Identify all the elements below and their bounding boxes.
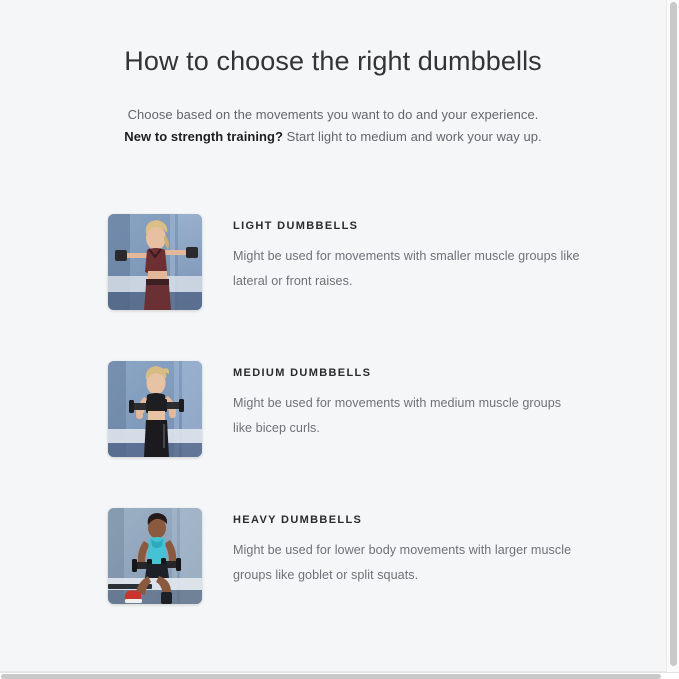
list-item: MEDIUM DUMBBELLS Might be used for movem… xyxy=(108,361,666,457)
subtitle-strong-lead: New to strength training? xyxy=(124,129,283,144)
vertical-scrollbar-thumb[interactable] xyxy=(670,2,677,666)
list-item-heading: LIGHT DUMBBELLS xyxy=(233,219,583,233)
page-subtitle: Choose based on the movements you want t… xyxy=(0,78,666,148)
woman-bicep-curl-photo xyxy=(108,361,202,457)
subtitle-line-2-rest: Start light to medium and work your way … xyxy=(283,129,542,144)
subtitle-line-2: New to strength training? Start light to… xyxy=(0,126,666,148)
page-header: How to choose the right dumbbells Choose… xyxy=(0,0,666,148)
list-item-body: Might be used for movements with medium … xyxy=(233,380,583,441)
subtitle-line-1: Choose based on the movements you want t… xyxy=(0,104,666,126)
dumbbell-options-list: LIGHT DUMBBELLS Might be used for moveme… xyxy=(0,148,666,604)
list-item-text: HEAVY DUMBBELLS Might be used for lower … xyxy=(202,508,583,588)
horizontal-scrollbar-thumb[interactable] xyxy=(1,674,661,679)
woman-lateral-raise-photo xyxy=(108,214,202,310)
list-item: HEAVY DUMBBELLS Might be used for lower … xyxy=(108,508,666,604)
page-title: How to choose the right dumbbells xyxy=(0,44,666,78)
content-page: How to choose the right dumbbells Choose… xyxy=(0,0,666,672)
list-item-body: Might be used for movements with smaller… xyxy=(233,233,583,294)
list-item: LIGHT DUMBBELLS Might be used for moveme… xyxy=(108,214,666,310)
man-split-squat-photo xyxy=(108,508,202,604)
list-item-text: LIGHT DUMBBELLS Might be used for moveme… xyxy=(202,214,583,294)
list-item-heading: HEAVY DUMBBELLS xyxy=(233,513,583,527)
vertical-scrollbar[interactable] xyxy=(666,0,679,672)
list-item-body: Might be used for lower body movements w… xyxy=(233,527,583,588)
horizontal-scrollbar[interactable] xyxy=(0,672,679,679)
list-item-text: MEDIUM DUMBBELLS Might be used for movem… xyxy=(202,361,583,441)
list-item-heading: MEDIUM DUMBBELLS xyxy=(233,366,583,380)
